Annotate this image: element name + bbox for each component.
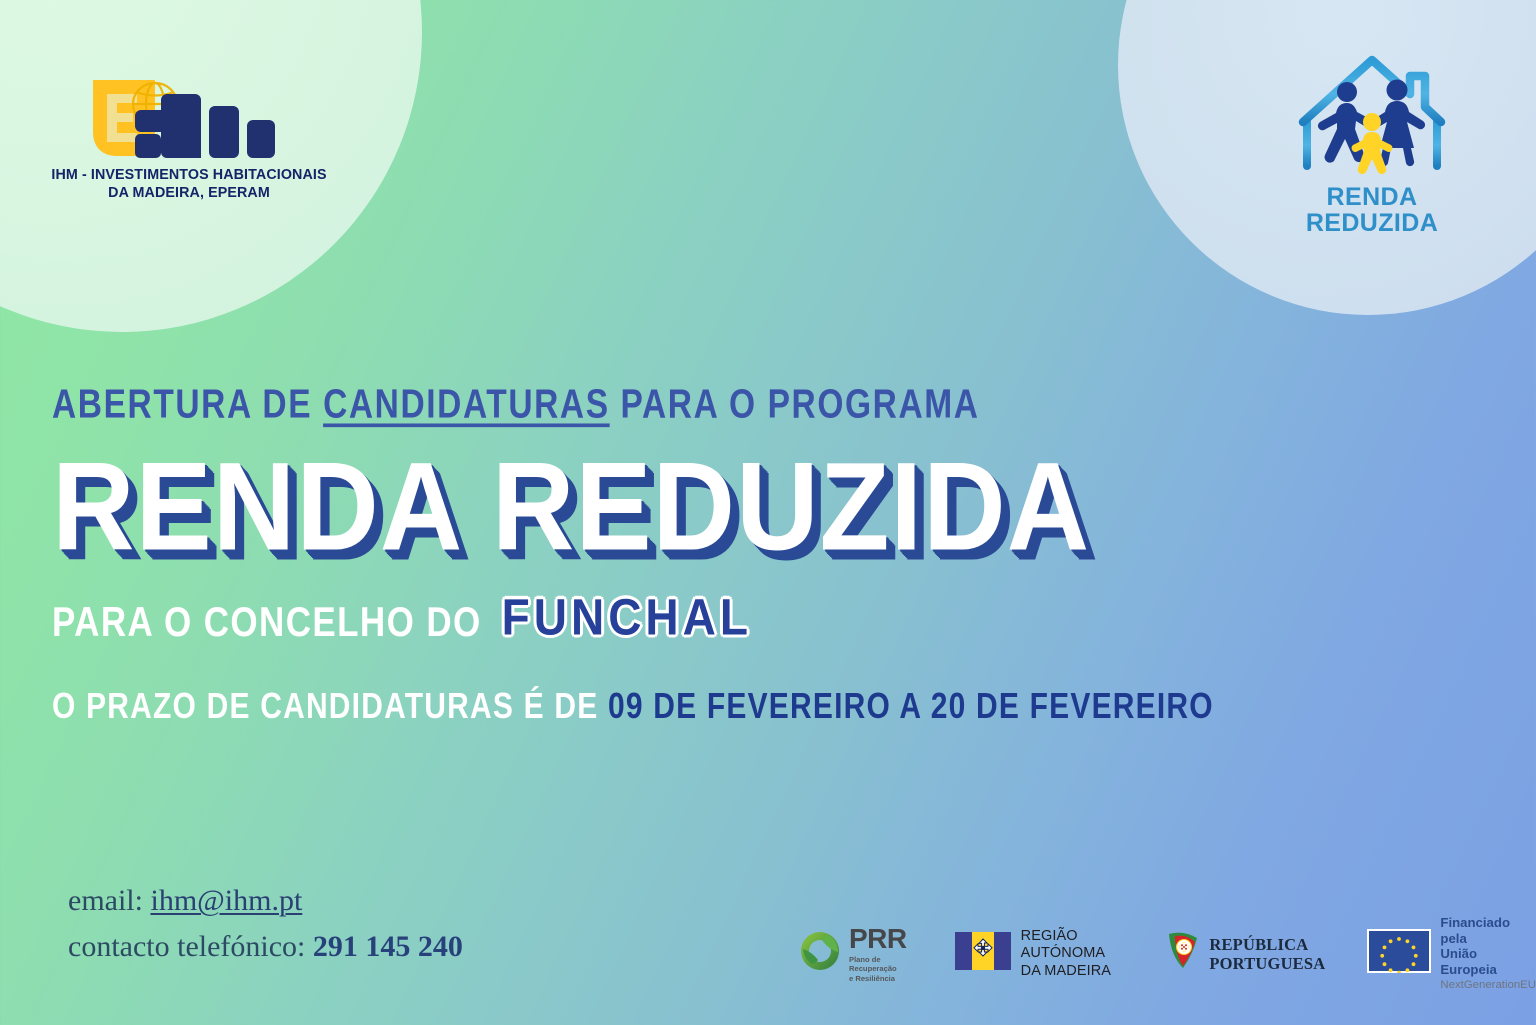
renda-reduzida-logo-line2: REDUZIDA bbox=[1272, 211, 1472, 237]
contact-block: email: ihm@ihm.pt contacto telefónico: 2… bbox=[68, 878, 463, 969]
ihm-logo-text: IHM - INVESTIMENTOS HABITACIONAIS DA MAD… bbox=[14, 166, 364, 203]
ihm-logo-line1: IHM - INVESTIMENTOS HABITACIONAIS bbox=[14, 166, 364, 184]
republica-portuguesa-logo: REPÚBLICA PORTUGUESA bbox=[1165, 930, 1325, 977]
deadline-middle: A bbox=[891, 687, 931, 727]
prr-leaf-circle-icon bbox=[798, 929, 842, 978]
contact-email-row: email: ihm@ihm.pt bbox=[68, 878, 463, 924]
republica-line2: PORTUGUESA bbox=[1209, 954, 1325, 973]
madeira-logo: REGIÃO AUTÓNOMA DA MADEIRA bbox=[955, 928, 1122, 980]
deadline-start-date: 09 DE FEVEREIRO bbox=[608, 687, 891, 727]
contact-phone-number: 291 145 240 bbox=[313, 930, 463, 963]
portugal-shield-icon bbox=[1165, 930, 1201, 977]
deadline-text: O PRAZO DE CANDIDATURAS É DE 09 DE FEVER… bbox=[52, 687, 1452, 728]
eu-funding-line3: NextGenerationEU bbox=[1440, 979, 1536, 992]
ihm-logo: IHM - INVESTIMENTOS HABITACIONAIS DA MAD… bbox=[14, 78, 364, 203]
renda-reduzida-logo: RENDA REDUZIDA bbox=[1272, 48, 1472, 237]
deadline-prefix: O PRAZO DE CANDIDATURAS É DE bbox=[52, 687, 608, 727]
eyebrow-text: ABERTURA DE CANDIDATURAS PARA O PROGRAMA bbox=[52, 382, 1452, 428]
contact-phone-label: contacto telefónico: bbox=[68, 930, 313, 963]
prr-subtitle: Plano de Recuperação e Resiliência bbox=[849, 955, 907, 983]
contact-email-label: email: bbox=[68, 884, 150, 917]
subline: PARA O CONCELHO DOFUNCHAL bbox=[52, 596, 1452, 643]
eyebrow-before: ABERTURA DE bbox=[52, 382, 323, 427]
contact-phone-row: contacto telefónico: 291 145 240 bbox=[68, 924, 463, 970]
prr-logo: PRR Plano de Recuperação e Resiliência bbox=[798, 925, 907, 983]
republica-line1: REPÚBLICA bbox=[1209, 935, 1325, 954]
prr-subtitle-line1: Plano de Recuperação bbox=[849, 955, 907, 974]
house-family-icon bbox=[1272, 48, 1472, 183]
eyebrow-underlined: CANDIDATURAS bbox=[323, 382, 610, 427]
eu-flag-icon bbox=[1367, 929, 1431, 978]
eu-funding-logo: Financiado pela União Europeia NextGener… bbox=[1367, 915, 1536, 993]
madeira-line1: REGIÃO AUTÓNOMA bbox=[1021, 928, 1122, 963]
madeira-line2: DA MADEIRA bbox=[1021, 963, 1122, 980]
funder-logo-strip: PRR Plano de Recuperação e Resiliência R… bbox=[798, 915, 1536, 993]
eyebrow-after: PARA O PROGRAMA bbox=[610, 382, 980, 427]
contact-email-link[interactable]: ihm@ihm.pt bbox=[150, 884, 302, 917]
eu-funding-line2: União Europeia bbox=[1440, 946, 1536, 977]
prr-subtitle-line2: e Resiliência bbox=[849, 974, 907, 983]
deadline-end-date: 20 DE FEVEREIRO bbox=[931, 687, 1214, 727]
ihm-logo-line2: DA MADEIRA, EPERAM bbox=[14, 184, 364, 202]
ihm-bar-chart-globe-icon bbox=[87, 78, 292, 158]
prr-acronym: PRR bbox=[849, 925, 907, 953]
page-title: RENDA REDUZIDA bbox=[52, 444, 1480, 569]
subline-prefix: PARA O CONCELHO DO bbox=[52, 601, 482, 643]
headline-block: ABERTURA DE CANDIDATURAS PARA O PROGRAMA… bbox=[52, 382, 1452, 721]
subline-city: FUNCHAL bbox=[502, 591, 752, 642]
madeira-flag-icon bbox=[955, 932, 1011, 975]
renda-reduzida-logo-line1: RENDA bbox=[1272, 185, 1472, 211]
eu-funding-line1: Financiado pela bbox=[1440, 915, 1536, 946]
